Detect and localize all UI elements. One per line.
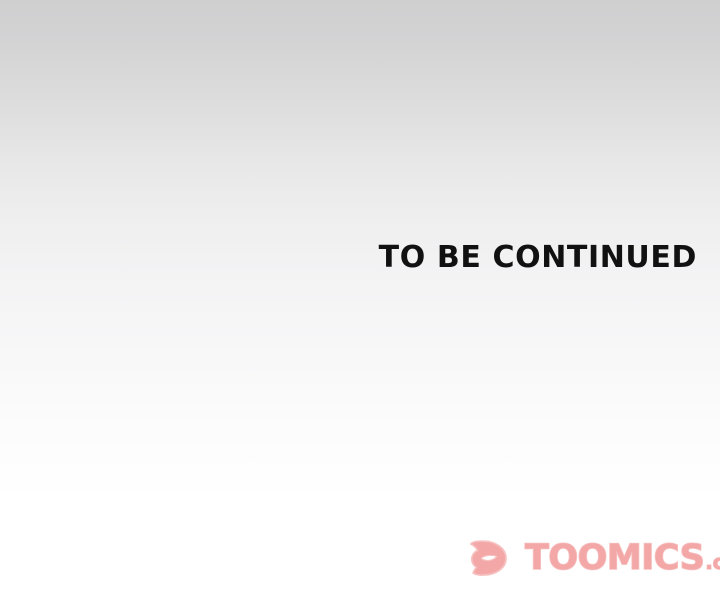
toomics-wordmark: TOOMICS bbox=[525, 541, 704, 576]
toomics-d-mascot-icon bbox=[470, 538, 518, 578]
toomics-watermark: TOOMICS .com bbox=[470, 534, 702, 582]
caption-container: TO BE CONTINUED bbox=[0, 232, 720, 284]
toomics-wordmark-group: TOOMICS .com bbox=[525, 541, 720, 576]
comic-panel: TO BE CONTINUED TOOMICS .com bbox=[0, 0, 720, 600]
toomics-tld: .com bbox=[705, 552, 720, 572]
to-be-continued-caption: TO BE CONTINUED bbox=[379, 243, 697, 273]
